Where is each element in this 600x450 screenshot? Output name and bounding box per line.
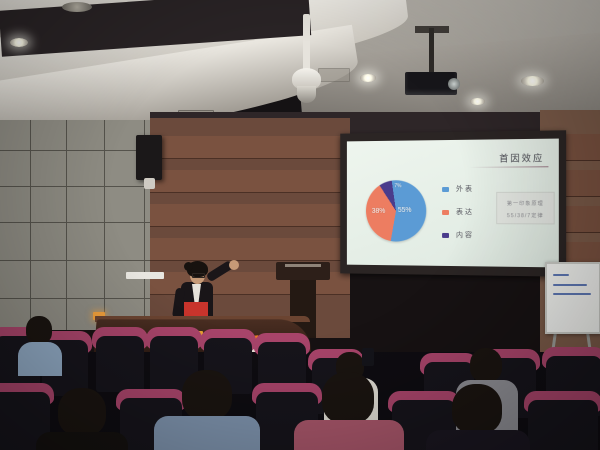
pie-chart: 55% 38% 7% bbox=[366, 180, 426, 242]
legend-swatch bbox=[442, 209, 449, 214]
chart-legend: 外表 表达 内容 bbox=[442, 184, 474, 253]
downlight-icon bbox=[360, 74, 376, 82]
seat bbox=[258, 336, 306, 390]
seat bbox=[96, 330, 144, 386]
whiteboard bbox=[545, 262, 600, 334]
legend-swatch bbox=[442, 232, 449, 237]
presenter-hand bbox=[229, 260, 239, 270]
slide-title-underline bbox=[469, 166, 548, 168]
power-outlet-strip-icon bbox=[126, 272, 164, 279]
projected-slide: 首因效应 55% 38% 7% 外表 表达 内容 bbox=[347, 139, 559, 268]
pie-label-outer: 55% bbox=[396, 207, 414, 214]
seat bbox=[528, 394, 598, 450]
downlight-icon bbox=[10, 38, 28, 47]
dome-camera-lens-icon bbox=[297, 86, 316, 103]
lecture-hall-photo: 首因效应 55% 38% 7% 外表 表达 内容 bbox=[0, 0, 600, 450]
legend-item: 表达 bbox=[442, 207, 474, 217]
slide-title: 首因效应 bbox=[499, 151, 544, 165]
legend-item: 外表 bbox=[442, 184, 474, 194]
legend-item: 内容 bbox=[442, 230, 474, 240]
slide-note-box: 第一印象原理 55/38/7定律 bbox=[496, 192, 554, 225]
legend-label: 表达 bbox=[456, 207, 474, 217]
smartphone-icon bbox=[362, 348, 374, 366]
note-line-1: 第一印象原理 bbox=[497, 200, 553, 207]
downlight-icon bbox=[521, 76, 544, 86]
projector-mount-pole bbox=[429, 28, 434, 74]
projection-screen-frame: 首因效应 55% 38% 7% 外表 表达 内容 bbox=[340, 130, 566, 276]
speaker-mount-bracket bbox=[144, 178, 155, 189]
note-line-2: 55/38/7定律 bbox=[497, 212, 553, 219]
pie-label-content: 7% bbox=[393, 184, 403, 189]
legend-swatch bbox=[442, 187, 449, 192]
ceiling-vent-icon bbox=[318, 68, 350, 82]
pie-label-expression: 38% bbox=[372, 208, 386, 215]
legend-label: 外表 bbox=[456, 184, 474, 194]
wall-speaker-icon bbox=[136, 135, 162, 180]
legend-label: 内容 bbox=[456, 230, 474, 240]
ceiling-vent-icon bbox=[62, 2, 92, 12]
lectern-lip bbox=[285, 264, 321, 267]
camera-mount-pole bbox=[303, 14, 310, 72]
downlight-icon bbox=[470, 98, 485, 105]
presenter-hair-bun bbox=[184, 262, 193, 271]
projector-lens-icon bbox=[448, 78, 460, 90]
presenter-glasses-icon bbox=[192, 273, 205, 278]
